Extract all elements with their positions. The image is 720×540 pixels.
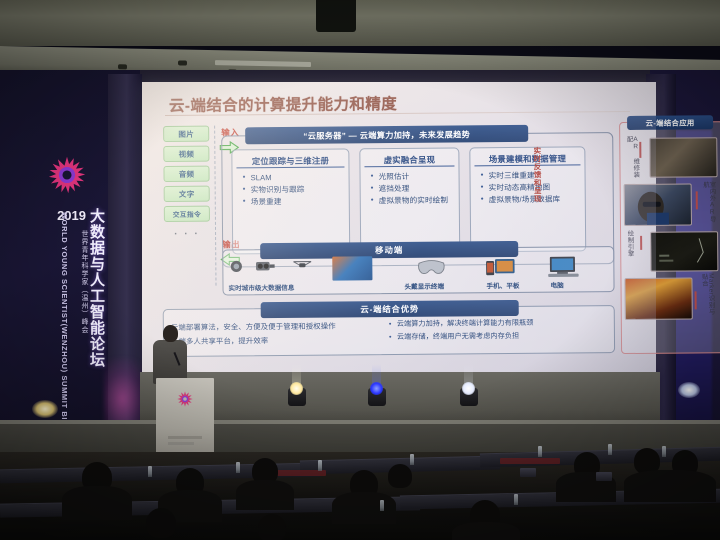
presenter-head [163, 325, 178, 342]
water-bottle [380, 500, 384, 511]
advantage-line: 云端多人共享平台，提升效率 [171, 333, 379, 349]
beam-hole [118, 64, 127, 69]
desktop-computer-icon [546, 254, 580, 278]
banner-subtitle-cn: 世界青年科学家（温州）峰会 [80, 230, 88, 334]
input-chip-video: 视频 [163, 146, 209, 162]
ar-navigation-thumb [624, 183, 692, 226]
input-chip-audio: 音频 [163, 166, 209, 182]
ceiling-vent [316, 0, 356, 32]
column-heading: 场景建模和数据管理 [474, 151, 580, 166]
water-bottle [318, 460, 322, 471]
laptop [596, 472, 612, 481]
app-label-rendering-engine: 绘制引擎 [626, 230, 633, 264]
light-lens [462, 382, 475, 395]
vr-headset-icon [416, 256, 446, 278]
audience-head [258, 514, 286, 540]
beam-light-slot [215, 60, 311, 67]
list-item: 虚拟景物的实时绘制 [371, 194, 459, 207]
app-label-ar-navigation: 室内外AR导航 [702, 181, 715, 227]
app-tick [639, 142, 641, 158]
water-bottle [148, 466, 152, 477]
beam-hole [178, 60, 187, 65]
input-chip-text: 文字 [164, 186, 210, 202]
app-tick [696, 191, 698, 209]
light-beam [372, 364, 381, 384]
column-heading: 定位跟踪与三维注册 [236, 153, 344, 168]
audience-shoulders [624, 470, 716, 502]
moving-head-light-white-1 [286, 380, 308, 406]
ceiling [0, 0, 720, 46]
surveillance-camera-icon [254, 257, 276, 275]
water-bottle [662, 446, 666, 457]
advantages-left-text: 云端部署算法，安全、方便及便于管理和授权操作 云端多人共享平台，提升效率 [171, 319, 379, 348]
advantages-banner: 云-端结合优势 [261, 300, 519, 318]
input-chip-image: 图片 [163, 126, 209, 142]
audience-head [388, 464, 412, 488]
column-item-list: 光照估计 遮挡处理 虚拟景物的实时绘制 [371, 170, 459, 206]
light-lens [370, 382, 383, 395]
device-caption: 手机、平板 [486, 280, 519, 290]
water-bottle [608, 444, 612, 455]
device-caption: 电脑 [550, 280, 563, 290]
phone-tablet-icon [484, 255, 516, 279]
audience-head [146, 508, 176, 538]
audience-shoulders [236, 480, 294, 510]
laptop [520, 468, 536, 477]
list-item: 实物识别与跟踪 [243, 183, 349, 196]
marker-tracking-thumb [624, 277, 692, 320]
floor-light-spot [32, 400, 58, 418]
drone-icon [290, 257, 314, 273]
column-heading: 虚实融合呈现 [364, 153, 454, 168]
column-card-fusion: 虚实融合呈现 光照估计 遮挡处理 虚拟景物的实时绘制 [359, 147, 460, 253]
banner-title-cn: 大数据与人工智能论坛 [88, 208, 104, 368]
moving-head-light-blue [366, 380, 388, 406]
presentation-slide: 云-端结合的计算提升能力和精度 图片 视频 音频 文字 交互指令 · · · 输… [141, 80, 658, 374]
light-lens [290, 382, 303, 395]
device-caption: 头戴显示终端 [404, 281, 444, 291]
audience-shoulders [332, 492, 396, 524]
column-item-list: SLAM 实物识别与跟踪 场景重建 [243, 171, 349, 207]
input-chip-interaction-command: 交互指令 [164, 206, 210, 222]
audience-shoulders [452, 522, 520, 540]
event-banner: 大数据与人工智能论坛 2019 世界青年科学家（温州）峰会 WORLD YOUN… [8, 150, 108, 440]
podium-text-mark [168, 442, 194, 445]
list-item: SLAM [243, 171, 349, 184]
podium-flower-logo [176, 390, 194, 408]
water-bottle [514, 494, 518, 505]
audience-area [0, 452, 720, 540]
city-bigdata-thumb [332, 256, 372, 280]
desk-red-skirt [500, 458, 560, 464]
app-label-ar-maintenance: AR 维修装配 [625, 136, 638, 180]
advantage-item: 云端存储，终端用户无需考虑内存负担 [389, 329, 605, 344]
cloud-server-banner: “云服务器” — 云端算力加持，未来发展趋势 [245, 125, 528, 144]
ar-maintenance-thumb [649, 137, 717, 178]
rendering-engine-thumb [650, 231, 718, 272]
realtime-feedback-label: 实时反馈和呈现 [533, 147, 541, 203]
water-bottle [538, 446, 542, 457]
app-tick [640, 236, 642, 250]
list-item: 光照估计 [371, 170, 459, 183]
input-chip-ellipsis: · · · [164, 226, 210, 242]
moving-head-light-white-2 [458, 380, 480, 406]
advantages-right-list: 云端算力加持，解决终端计算能力有限瓶颈 云端存储，终端用户无需考虑内存负担 [389, 316, 605, 344]
camera-icon [228, 257, 244, 275]
conference-hall-photo: 大数据与人工智能论坛 2019 世界青年科学家（温州）峰会 WORLD YOUN… [0, 0, 720, 540]
column-card-modeling: 场景建模和数据管理 实时三维重建 实时动态高精地图 虚拟景物/场景数据库 [469, 146, 586, 252]
device-caption: 实时城市级大数据信息 [228, 282, 294, 293]
light-beam [292, 364, 301, 384]
list-item: 遮挡处理 [371, 182, 459, 195]
light-beam [464, 364, 473, 384]
app-label-marker-tracking: Marker识别与贴合 [700, 273, 713, 321]
water-bottle [236, 462, 240, 473]
flower-burst-logo [46, 154, 88, 196]
right-floor-light [678, 382, 700, 398]
podium-text-mark [168, 436, 202, 439]
column-card-tracking: 定位跟踪与三维注册 SLAM 实物识别与跟踪 场景重建 [231, 148, 350, 254]
applications-banner: 云-端结合应用 [627, 115, 713, 130]
water-bottle [410, 454, 414, 465]
app-tick [695, 291, 697, 309]
audience-shoulders [62, 486, 132, 520]
list-item: 场景重建 [243, 195, 349, 208]
input-sources-column: 图片 视频 音频 文字 交互指令 · · · [163, 126, 216, 286]
